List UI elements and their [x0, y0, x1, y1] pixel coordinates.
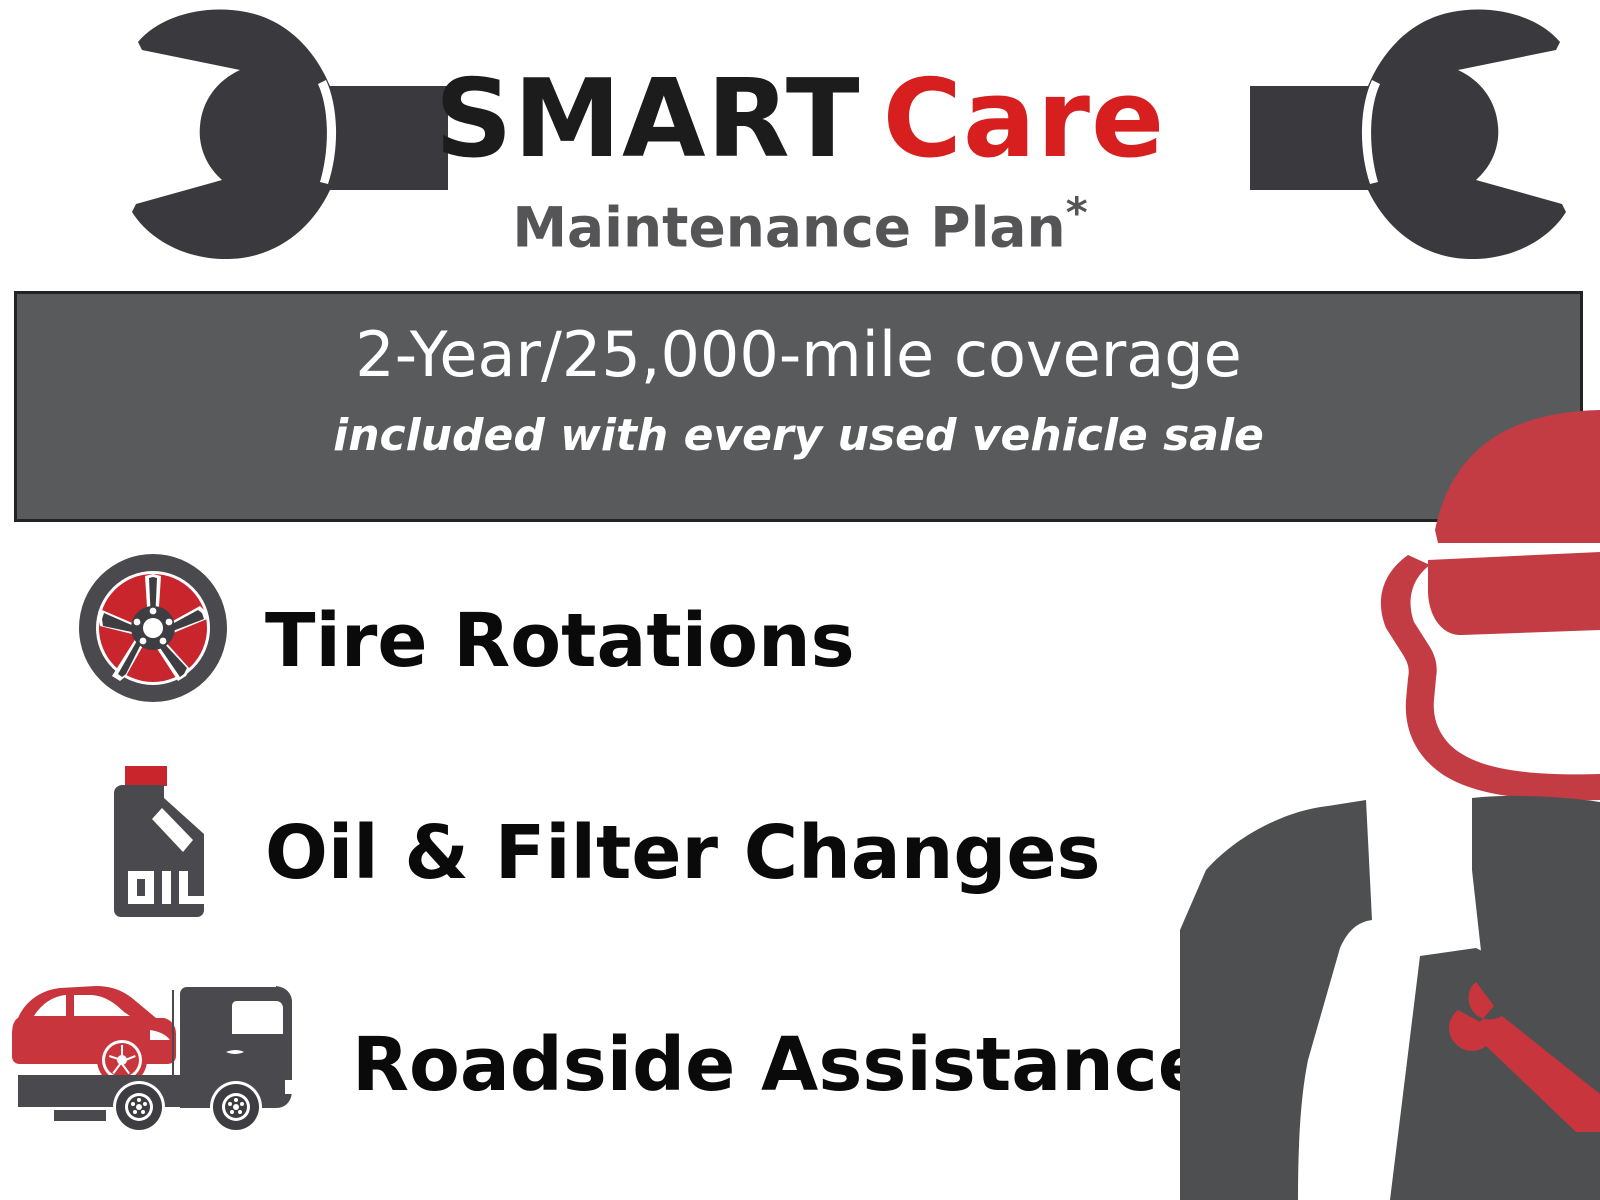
oil-bottle-icon [100, 760, 212, 918]
mechanic-torso-right [1390, 948, 1600, 1200]
logo-block: SMARTCare Maintenance Plan* [0, 0, 1600, 280]
tire-wheel-icon [78, 552, 228, 704]
coverage-banner: 2-Year/25,000-mile coverage included wit… [14, 291, 1583, 522]
logo-subtitle: Maintenance Plan* [0, 192, 1600, 255]
coverage-headline: 2-Year/25,000-mile coverage [17, 324, 1580, 386]
benefit-label: Oil & Filter Changes [265, 816, 1101, 890]
tow-truck-icon [4, 960, 324, 1130]
logo-word-smart: SMART [435, 57, 861, 182]
logo-subtitle-asterisk: * [1066, 188, 1088, 237]
benefit-item-roadside-assistance: Roadside Assistance [0, 960, 1200, 1160]
logo-word-care: Care [883, 57, 1166, 182]
benefit-item-tire-rotations: Tire Rotations [0, 552, 1200, 752]
logo-subtitle-text: Maintenance Plan [512, 195, 1065, 259]
benefit-label: Tire Rotations [265, 604, 855, 678]
mechanic-strap [1366, 794, 1472, 952]
mechanic-face-profile [1381, 555, 1600, 800]
towed-car [12, 986, 176, 1085]
benefit-label: Roadside Assistance [352, 1028, 1208, 1102]
mechanic-arm-left [1180, 800, 1372, 1200]
logo-wordmark: SMARTCare [0, 66, 1600, 174]
mechanic-cap-band [1428, 552, 1600, 635]
benefit-item-oil-filter-changes: Oil & Filter Changes [0, 760, 1200, 960]
mechanic-overalls-right [1472, 796, 1600, 960]
coverage-subline: included with every used vehicle sale [17, 414, 1580, 458]
wrench-icon [1449, 982, 1600, 1132]
